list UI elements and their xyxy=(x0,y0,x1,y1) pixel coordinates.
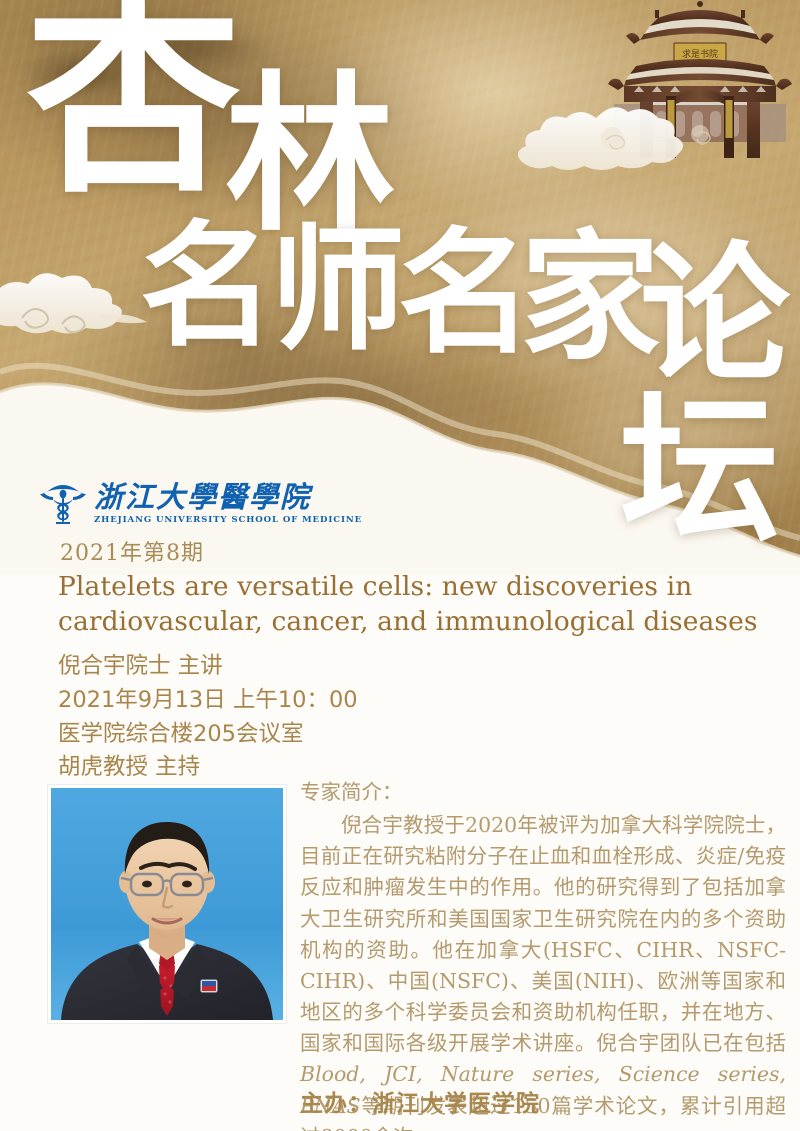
meta-venue: 医学院综合楼205会议室 xyxy=(58,718,388,752)
headline-char-5: 名 xyxy=(398,225,533,360)
organizer-line: 主办：浙江大学医学院 xyxy=(300,1084,540,1118)
headline-char-3: 名 xyxy=(140,218,275,353)
bio-paragraph: 倪合宇教授于2020年被评为加拿大科学院院士，目前正在研究粘附分子在止血和血栓形… xyxy=(300,810,786,1131)
headline-char-1: 杏 xyxy=(26,0,241,203)
meta-datetime: 2021年9月13日 上午10：00 xyxy=(58,684,388,718)
poster-root: 求是书院 xyxy=(0,0,800,1131)
bio-heading: 专家简介： xyxy=(300,777,786,808)
speaker-bio: 专家简介： 倪合宇教授于2020年被评为加拿大科学院院士，目前正在研究粘附分子在… xyxy=(300,777,786,1131)
meta-speaker: 倪合宇院士 主讲 xyxy=(58,650,388,684)
lecture-title: Platelets are versatile cells: new disco… xyxy=(58,570,758,640)
issue-number: 2021年第8期 xyxy=(60,535,204,567)
headline-char-4: 师 xyxy=(270,222,405,357)
bio-segment-1: 倪合宇教授于2020年被评为加拿大科学院院士，目前正在研究粘附分子在止血和血栓形… xyxy=(300,813,786,1055)
headline-char-6: 家 xyxy=(520,228,660,368)
caduceus-wings-emblem-icon xyxy=(40,482,86,526)
headline-char-7: 论 xyxy=(640,240,790,390)
logo-chinese-name: 浙江大學醫學院 xyxy=(94,483,362,512)
zju-som-logo: 浙江大學醫學院 ZHEJIANG UNIVERSITY SCHOOL OF ME… xyxy=(40,482,362,526)
poster-body: 浙江大學醫學院 ZHEJIANG UNIVERSITY SCHOOL OF ME… xyxy=(0,500,800,1131)
lecture-meta: 倪合宇院士 主讲 2021年9月13日 上午10：00 医学院综合楼205会议室… xyxy=(58,650,388,785)
speaker-portrait-photo xyxy=(48,785,286,1023)
logo-english-name: ZHEJIANG UNIVERSITY SCHOOL OF MEDICINE xyxy=(94,516,362,525)
